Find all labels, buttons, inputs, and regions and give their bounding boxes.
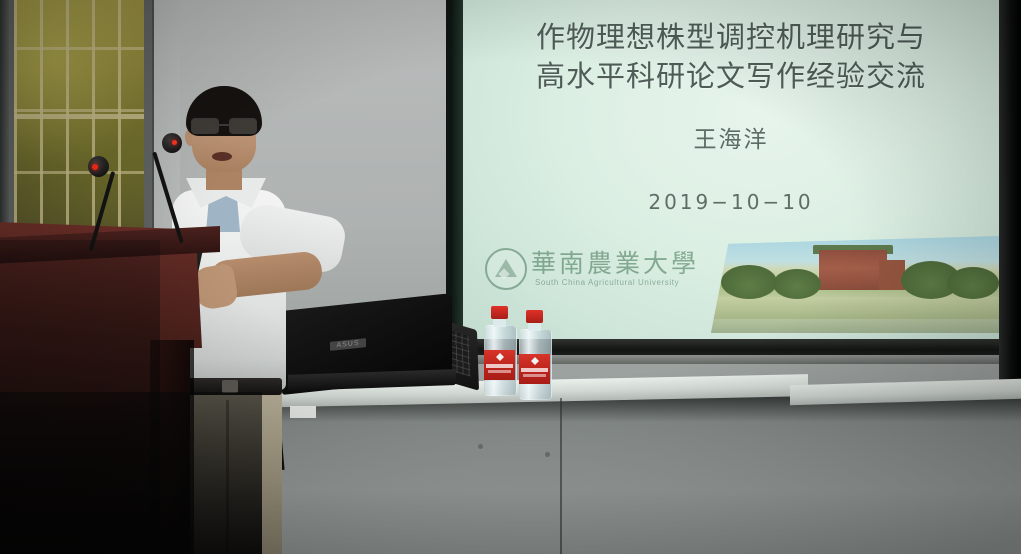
desk-seam bbox=[560, 398, 562, 554]
slide-author-name: 王海洋 bbox=[463, 120, 999, 154]
desk-screw bbox=[478, 444, 483, 449]
window-mullion bbox=[14, 114, 144, 119]
slide-date: 2019−10−10 bbox=[463, 190, 999, 214]
campus-photo-tree bbox=[773, 269, 821, 299]
university-name-english: South China Agricultural University bbox=[535, 278, 679, 287]
bottle-label-text-line bbox=[523, 374, 546, 377]
microphone-led-indicator bbox=[92, 164, 98, 170]
bottle-label-text-line bbox=[486, 364, 513, 368]
microphone-led-indicator bbox=[172, 140, 177, 145]
university-crest-icon bbox=[485, 248, 527, 290]
bottle-cap bbox=[526, 310, 543, 323]
eyeglasses-bridge bbox=[217, 124, 229, 126]
water-bottle[interactable] bbox=[519, 310, 550, 398]
water-bottle[interactable] bbox=[484, 306, 515, 394]
speaker-mouth bbox=[212, 152, 232, 161]
photo-scene: 作物理想株型调控机理研究与 高水平科研论文写作经验交流 王海洋 2019−10−… bbox=[0, 0, 1021, 554]
foreground-shadow-bottom bbox=[0, 392, 262, 554]
campus-photo-building bbox=[819, 250, 887, 290]
window-frame bbox=[6, 0, 152, 242]
bottle-label-text-line bbox=[521, 368, 548, 372]
bottle-neck bbox=[493, 318, 506, 327]
desk-screw bbox=[545, 452, 550, 457]
campus-photo-water bbox=[711, 319, 999, 333]
university-name-chinese: 華南農業大學 bbox=[531, 244, 699, 280]
bottle-cap bbox=[491, 306, 508, 319]
screen-bezel-left bbox=[452, 0, 463, 346]
university-logo: 華南農業大學 South China Agricultural Universi… bbox=[485, 242, 715, 300]
bottle-neck bbox=[528, 322, 541, 331]
campus-photo-tree bbox=[947, 267, 999, 299]
window-edge-shadow bbox=[0, 0, 9, 246]
campus-photo-tree bbox=[721, 265, 777, 299]
presentation-slide: 作物理想株型调控机理研究与 高水平科研论文写作经验交流 王海洋 2019−10−… bbox=[463, 0, 999, 339]
slide-title: 作物理想株型调控机理研究与 高水平科研论文写作经验交流 bbox=[463, 18, 999, 96]
bottle-label-text-line bbox=[488, 370, 511, 373]
campus-photo bbox=[711, 236, 999, 333]
